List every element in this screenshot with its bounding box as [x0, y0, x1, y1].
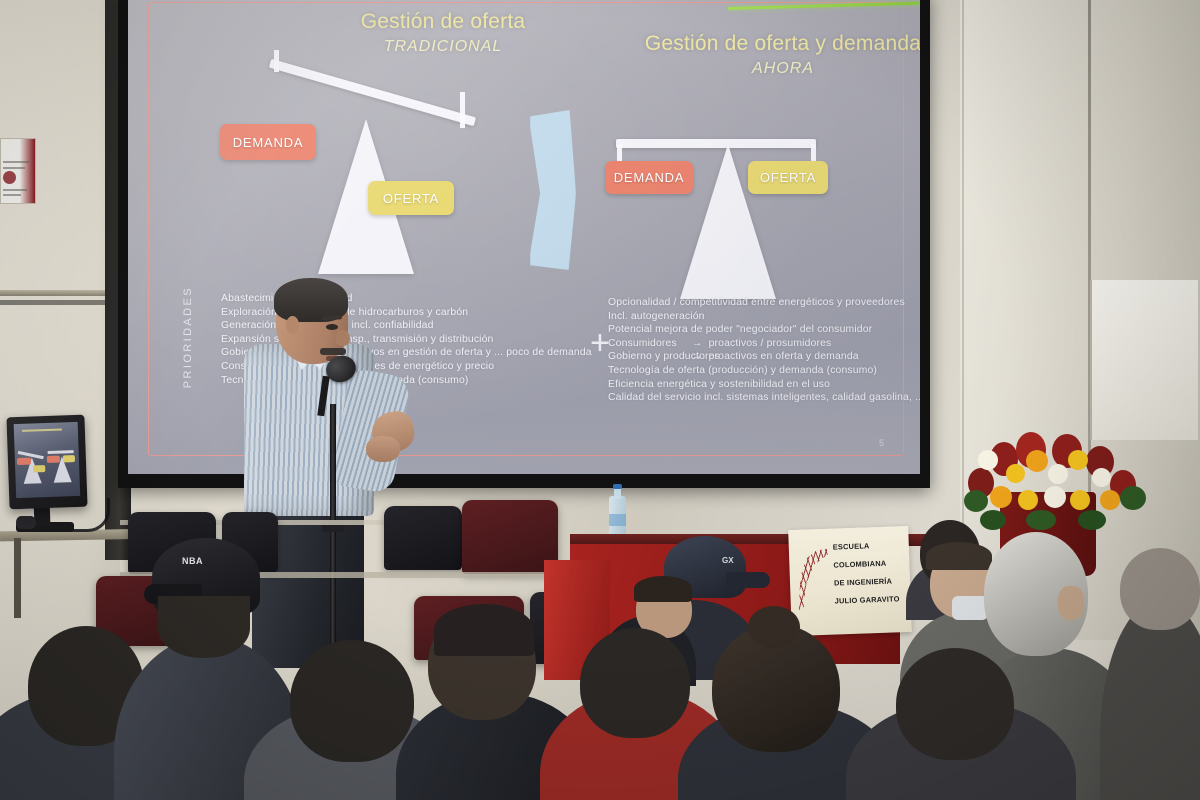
- framed-poster: [0, 138, 36, 204]
- plus-sign: +: [590, 326, 610, 360]
- speaker-hand-second: [366, 436, 400, 462]
- speaker-nose: [336, 330, 350, 346]
- cap-brim: [726, 572, 770, 588]
- desk-leg: [14, 538, 21, 618]
- arrow-row: Gobierno y productores→ proactivos en of…: [608, 350, 908, 364]
- institution-banner: ESCUELA COLOMBIANA DE INGENIERÍA JULIO G…: [788, 526, 912, 636]
- slide-subtitle-left: TRADICIONAL: [278, 38, 608, 56]
- list-item: Exploración y producción de hidrocarburo…: [221, 306, 541, 320]
- list-item: Calidad del servicio incl. sistemas inte…: [608, 391, 908, 405]
- arrow-row: Consumidores→ proactivos / prosumidores: [608, 337, 908, 351]
- slide-subtitle-right: AHORA: [598, 60, 920, 78]
- cap-logo-text: GX: [722, 556, 734, 565]
- list-item: Abastecimiento y seguridad: [221, 292, 541, 306]
- audience-ear: [1058, 586, 1084, 620]
- audience-head: [580, 628, 690, 738]
- poster-crest-icon: [3, 171, 16, 184]
- list-item: Generación de electricidad incl. confiab…: [221, 319, 541, 333]
- banner-line: DE INGENIERÍA: [834, 577, 892, 588]
- hyperbolic-grid-logo-icon: [797, 549, 831, 610]
- arrow-row-left: Gobierno y productores: [608, 350, 692, 364]
- banner-line: COLOMBIANA: [833, 559, 886, 570]
- speaker-moustache: [320, 348, 346, 355]
- hair-bun: [748, 606, 800, 648]
- confidence-monitor: [6, 415, 87, 510]
- speaker-eye: [326, 324, 338, 330]
- whiteboard: [1090, 280, 1198, 440]
- pan-oferta-left: OFERTA: [368, 181, 454, 215]
- audience-head: [158, 596, 250, 658]
- list-item: Incl. autogeneración: [608, 310, 908, 324]
- banner-line: JULIO GARAVITO: [835, 594, 900, 605]
- floral-arrangement: [960, 424, 1150, 534]
- arrow-row-left: Consumidores: [608, 337, 692, 351]
- list-item: Potencial mejora de poder "negociador" d…: [608, 323, 908, 337]
- prioridades-vertical-label: PRIORIDADES: [182, 286, 194, 388]
- cap-logo-text: NBA: [182, 556, 203, 566]
- speaker-ear: [286, 316, 299, 334]
- face-mask: [952, 596, 988, 620]
- arrow-row-right: proactivos / prosumidores: [709, 338, 832, 349]
- bullet-list-right: Opcionalidad / competitividad entre ener…: [608, 296, 908, 405]
- pan-oferta-right: OFERTA: [748, 161, 828, 194]
- chair[interactable]: [384, 506, 462, 570]
- presentation-photo-scene: Gestión de oferta TRADICIONAL Gestión de…: [0, 0, 1200, 800]
- pan-demanda-left: DEMANDA: [220, 124, 316, 160]
- monitor-screen: [14, 422, 81, 498]
- banner-line: ESCUELA: [833, 541, 870, 551]
- bottle-cap-icon: [613, 484, 622, 489]
- audience-hair: [434, 604, 534, 656]
- list-item: Eficiencia energética y sostenibilidad e…: [608, 378, 908, 392]
- audience-hair: [926, 542, 992, 570]
- audience-head: [290, 640, 414, 762]
- list-item: Opcionalidad / competitividad entre ener…: [608, 296, 908, 310]
- slide-title-left: Gestión de oferta: [278, 10, 608, 34]
- audience-hair: [634, 576, 692, 602]
- audience-head: [896, 648, 1014, 760]
- doorway-shadow: [0, 300, 106, 305]
- list-item: Tecnología de oferta (producción) y dema…: [608, 364, 908, 378]
- slide-title-right-group: Gestión de oferta y demanda AHORA: [598, 32, 920, 78]
- arrow-row-right: proactivos en oferta y demanda: [709, 351, 859, 362]
- audience-head: [1120, 548, 1200, 630]
- arrow-icon: →: [692, 338, 703, 349]
- slide-number: 5: [879, 438, 884, 448]
- slide-title-right: Gestión de oferta y demanda: [598, 32, 920, 56]
- scale-hanger-demanda-left: [274, 50, 279, 72]
- pan-demanda-right: DEMANDA: [605, 161, 693, 194]
- wall-molding: [0, 290, 120, 296]
- computer-mouse[interactable]: [16, 516, 36, 529]
- arrow-icon: →: [692, 351, 703, 362]
- slide-title-left-group: Gestión de oferta TRADICIONAL: [278, 10, 608, 56]
- scale-hanger-oferta-left: [460, 92, 465, 128]
